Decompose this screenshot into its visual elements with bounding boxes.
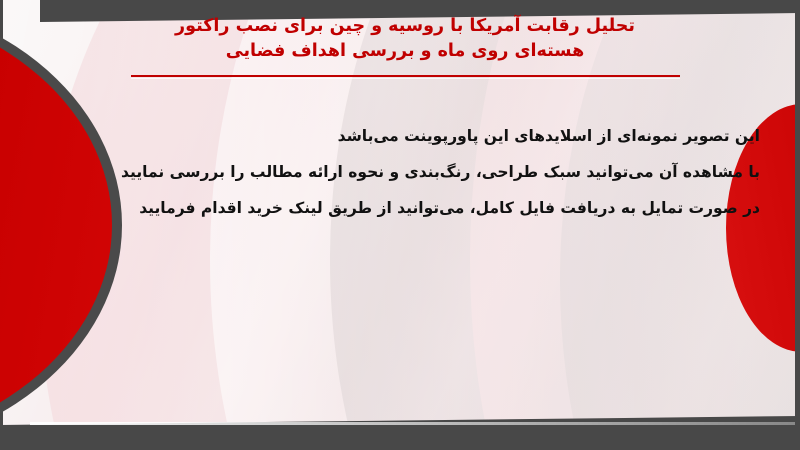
body-line-3: در صورت تمایل به دریافت فایل کامل، می‌تو… bbox=[60, 190, 760, 226]
body-line-1: این تصویر نمونه‌ای از اسلایدهای این پاور… bbox=[60, 118, 760, 154]
slide-body-text: این تصویر نمونه‌ای از اسلایدهای این پاور… bbox=[60, 118, 760, 226]
right-edge-band bbox=[795, 0, 800, 450]
title-line-2: هسته‌ای روی ماه و بررسی اهداف فضایی bbox=[130, 39, 680, 64]
body-line-2: با مشاهده آن می‌توانید سبک طراحی، رنگ‌بن… bbox=[60, 154, 760, 190]
title-divider-rule bbox=[131, 75, 680, 77]
title-divider-highlight bbox=[131, 78, 680, 79]
bottom-highlight-line bbox=[30, 422, 800, 425]
presentation-slide: تحلیل رقابت آمریکا با روسیه و چین برای ن… bbox=[0, 0, 800, 450]
title-line-1: تحلیل رقابت آمریکا با روسیه و چین برای ن… bbox=[130, 14, 680, 39]
slide-title: تحلیل رقابت آمریکا با روسیه و چین برای ن… bbox=[130, 14, 680, 64]
